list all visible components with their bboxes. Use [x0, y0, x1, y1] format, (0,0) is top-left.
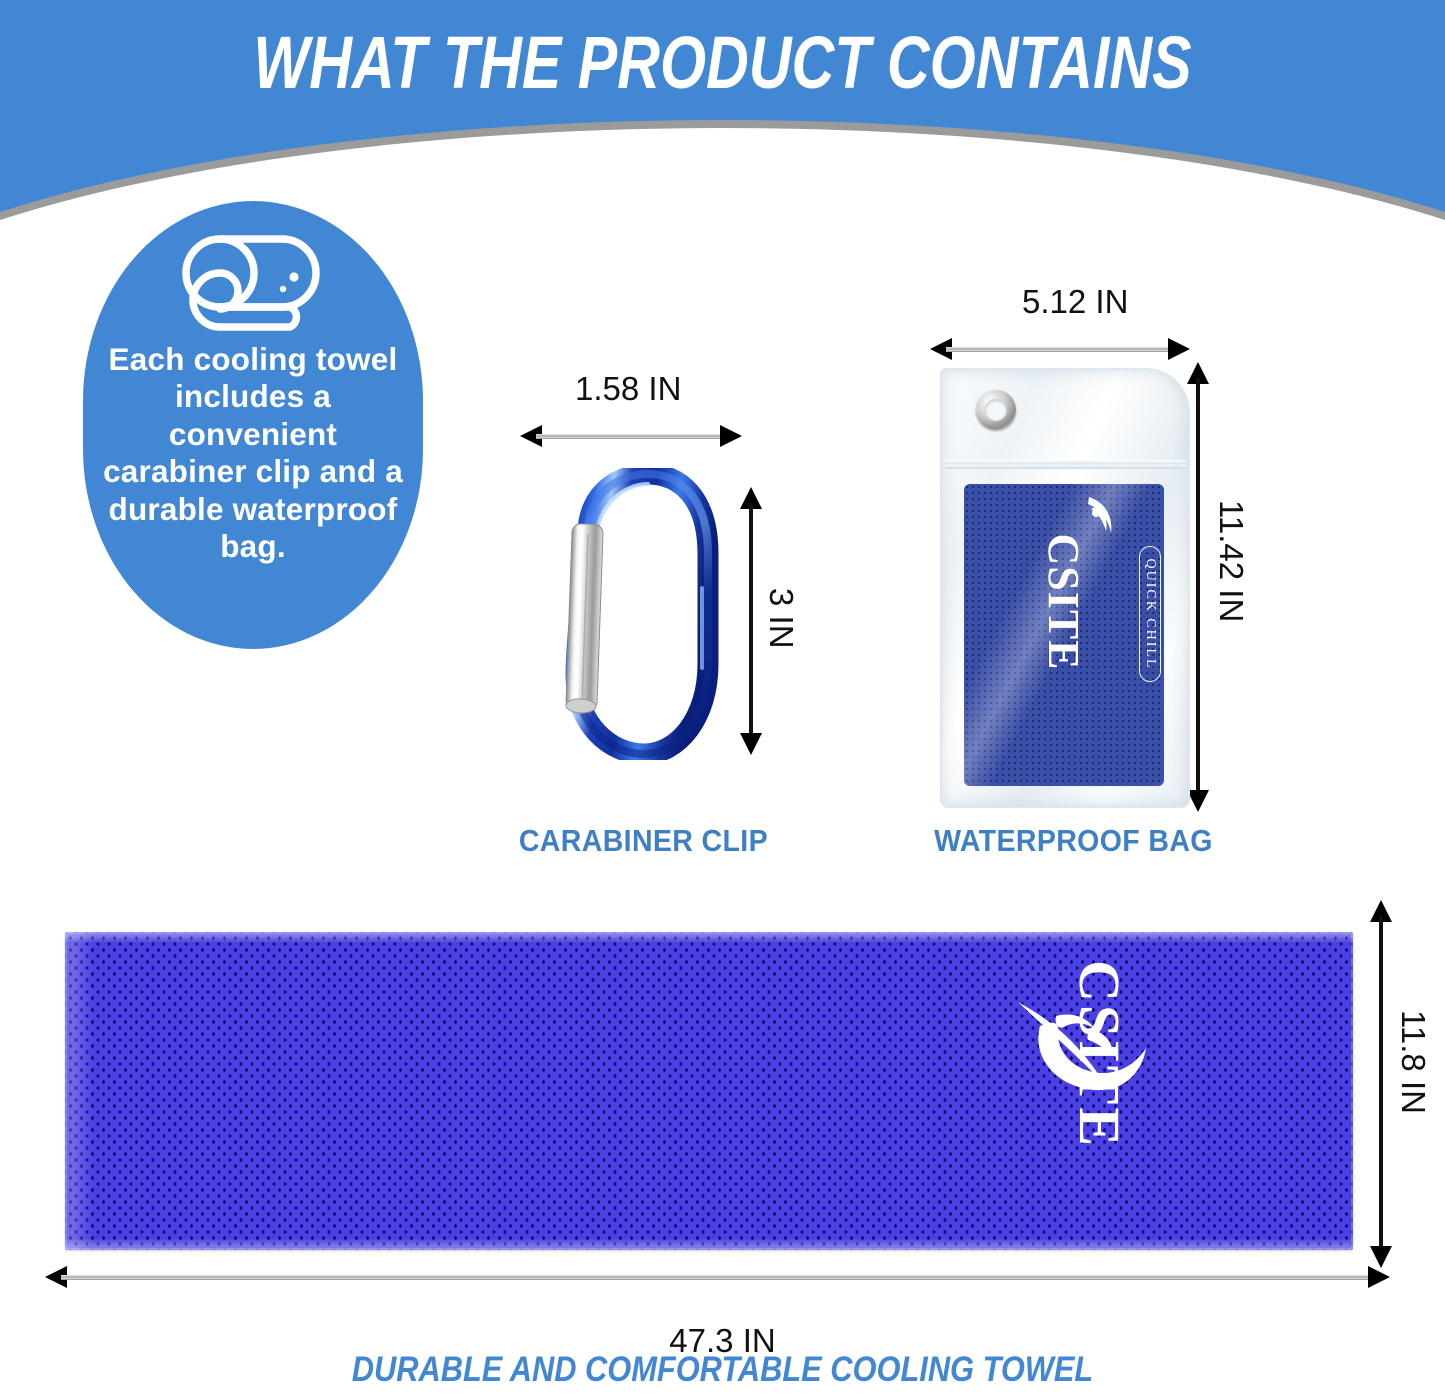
- bag-towel-quick-chill-badge: QUICK CHILL: [1139, 546, 1161, 681]
- page-title: WHAT THE PRODUCT CONTAINS: [145, 24, 1301, 102]
- bag-towel-type-block: COOLING TOWEL QUICK CHILL: [1139, 489, 1164, 739]
- csite-swoosh-logo-icon: [1085, 495, 1115, 535]
- feature-badge: Each cooling towel includes a convenient…: [78, 196, 428, 654]
- carabiner-width-arrow: [520, 425, 742, 447]
- bag-height-label: 11.42 IN: [1212, 500, 1250, 622]
- carabiner-height-label: 3 IN: [762, 588, 800, 649]
- towel-brand-block: CSITE: [1055, 970, 1355, 1220]
- carabiner-width-label: 1.58 IN: [575, 370, 681, 408]
- carabiner-height-arrow: [740, 487, 762, 755]
- towel-height-label: 11.8 IN: [1394, 1010, 1432, 1114]
- bag-caption: WATERPROOF BAG: [934, 823, 1213, 859]
- bag-zip-seal: [944, 460, 1186, 469]
- bag-width-arrow: [930, 338, 1190, 360]
- bag-height-arrow: [1187, 362, 1209, 812]
- towel-width-arrow: [45, 1266, 1390, 1288]
- bottom-caption: DURABLE AND COMFORTABLE COOLING TOWEL: [87, 1350, 1359, 1390]
- towel-brand: CSITE: [1066, 960, 1133, 1260]
- bag-towel-brand: CSITE: [1041, 484, 1085, 727]
- carabiner-caption: CARABINER CLIP: [519, 823, 768, 859]
- waterproof-bag-image: CSITE COOLING TOWEL QUICK CHILL: [940, 368, 1190, 808]
- carabiner-shape: [552, 468, 724, 760]
- bag-width-label: 5.12 IN: [1022, 283, 1128, 321]
- towel-height-arrow: [1370, 900, 1392, 1268]
- bag-folded-towel: CSITE COOLING TOWEL QUICK CHILL: [964, 484, 1164, 786]
- rolled-towel-icon: [168, 227, 338, 332]
- feature-badge-text: Each cooling towel includes a convenient…: [97, 341, 409, 566]
- product-infographic: WHAT THE PRODUCT CONTAINS Each cooling t…: [0, 0, 1445, 1399]
- carabiner-clip-image: [552, 468, 724, 760]
- bag-towel-brand-block: CSITE: [1041, 484, 1085, 727]
- bag-grommet: [976, 390, 1016, 430]
